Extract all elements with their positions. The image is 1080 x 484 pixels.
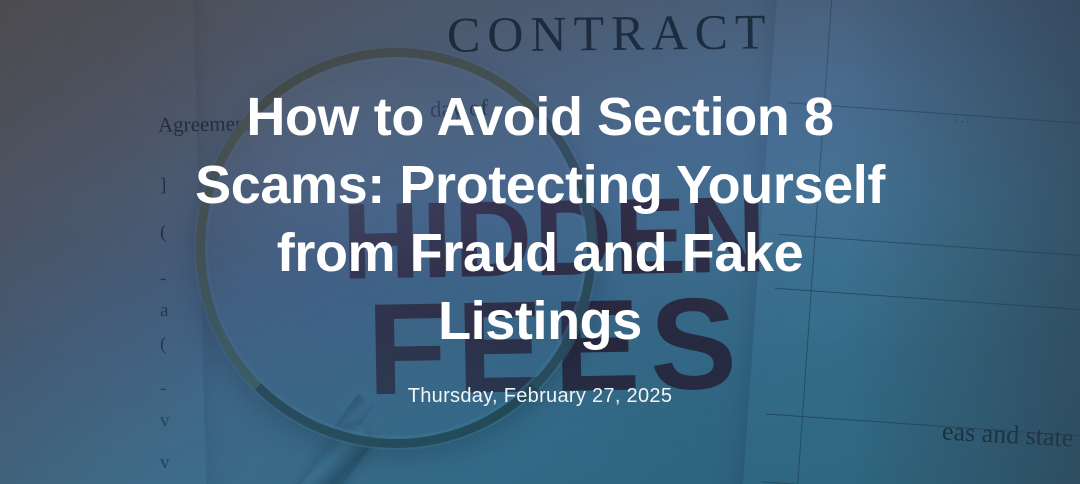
hero-content: How to Avoid Section 8 Scams: Protecting… (0, 0, 1080, 484)
page-title: How to Avoid Section 8 Scams: Protecting… (190, 83, 890, 355)
blog-hero-banner: CONTRACT Agreement day of ] ( - a ( - v … (0, 0, 1080, 484)
publish-date: Thursday, February 27, 2025 (408, 385, 673, 408)
